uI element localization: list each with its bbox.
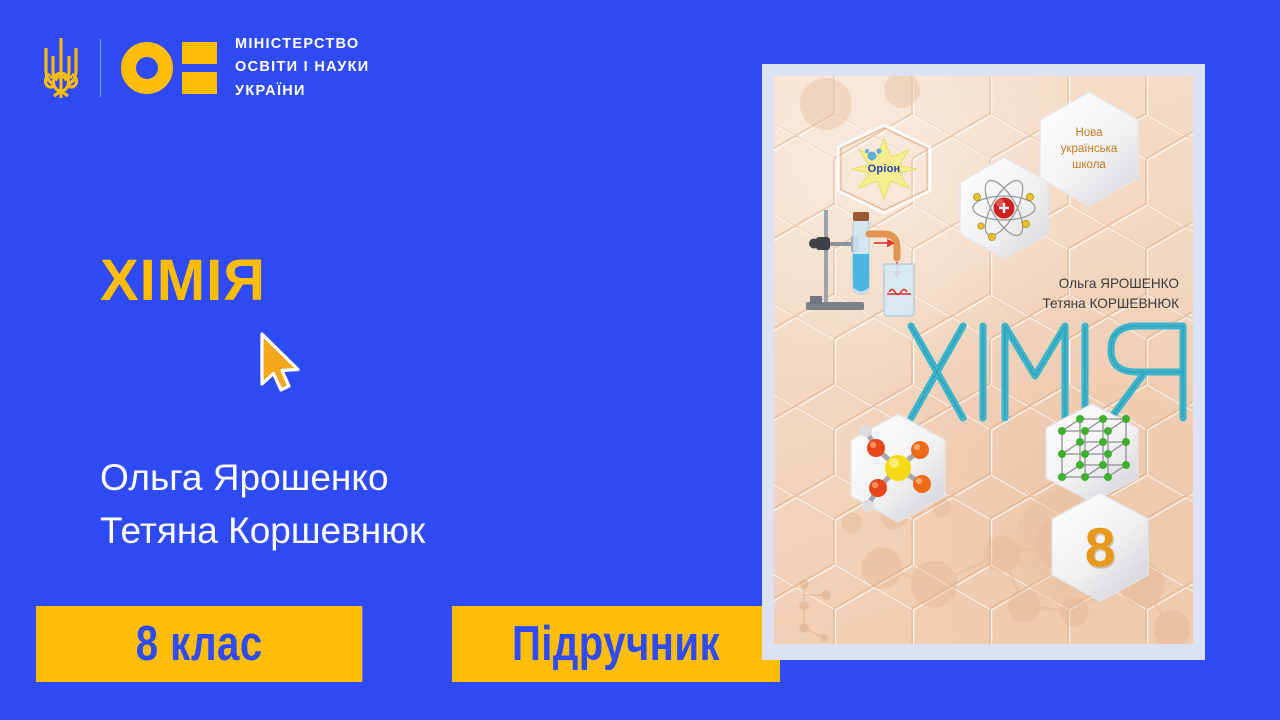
- page-title: ХІМІЯ: [100, 252, 266, 310]
- authors-block: Ольга Ярошенко Тетяна Коршевнюк: [100, 452, 425, 557]
- sulfate-molecule-hexagon[interactable]: [846, 410, 951, 526]
- bar-bottom: [182, 72, 217, 94]
- ministry-wordmark: МІНІСТЕРСТВО ОСВІТИ І НАУКИ УКРАЇНИ: [235, 33, 370, 103]
- orion-publisher-hexagon[interactable]: Оріон: [834, 123, 934, 215]
- equals-bars: [182, 42, 217, 94]
- type-badge[interactable]: Підручник: [452, 606, 780, 682]
- grade-number-hexagon[interactable]: 8: [1046, 489, 1154, 605]
- cover-author-2: Тетяна КОРШЕВНЮК: [1042, 294, 1179, 314]
- badge-row: 8 клас Підручник: [36, 606, 852, 682]
- arrow-cursor-icon: [258, 332, 310, 394]
- ministry-logo: МІНІСТЕРСТВО ОСВІТИ І НАУКИ УКРАЇНИ: [40, 28, 370, 108]
- grade-badge-label: 8 клас: [136, 616, 263, 672]
- mon-o-equals-mark: [121, 42, 217, 94]
- cover-author-1: Ольга ЯРОШЕНКО: [1042, 274, 1179, 294]
- logo-divider: [100, 39, 101, 97]
- grade-badge[interactable]: 8 клас: [36, 606, 362, 682]
- ministry-line-3: УКРАЇНИ: [235, 80, 370, 103]
- ministry-line-1: МІНІСТЕРСТВО: [235, 33, 370, 56]
- bar-top: [182, 42, 217, 64]
- ring-shape: [121, 42, 173, 94]
- ukrainian-trident-icon: [40, 34, 82, 102]
- cover-authors-block: Ольга ЯРОШЕНКО Тетяна КОРШЕВНЮК: [1042, 274, 1179, 315]
- author-name-1: Ольга Ярошенко: [100, 452, 425, 505]
- nova-ukrainska-shkola-hexagon[interactable]: Нова українська школа: [1033, 88, 1145, 210]
- cover-page: Оріон: [774, 76, 1193, 644]
- ministry-line-2: ОСВІТИ І НАУКИ: [235, 56, 370, 79]
- author-name-2: Тетяна Коршевнюк: [100, 505, 425, 558]
- type-badge-label: Підручник: [512, 616, 720, 672]
- book-cover[interactable]: Оріон: [762, 64, 1205, 660]
- lab-apparatus-illustration: [796, 206, 932, 324]
